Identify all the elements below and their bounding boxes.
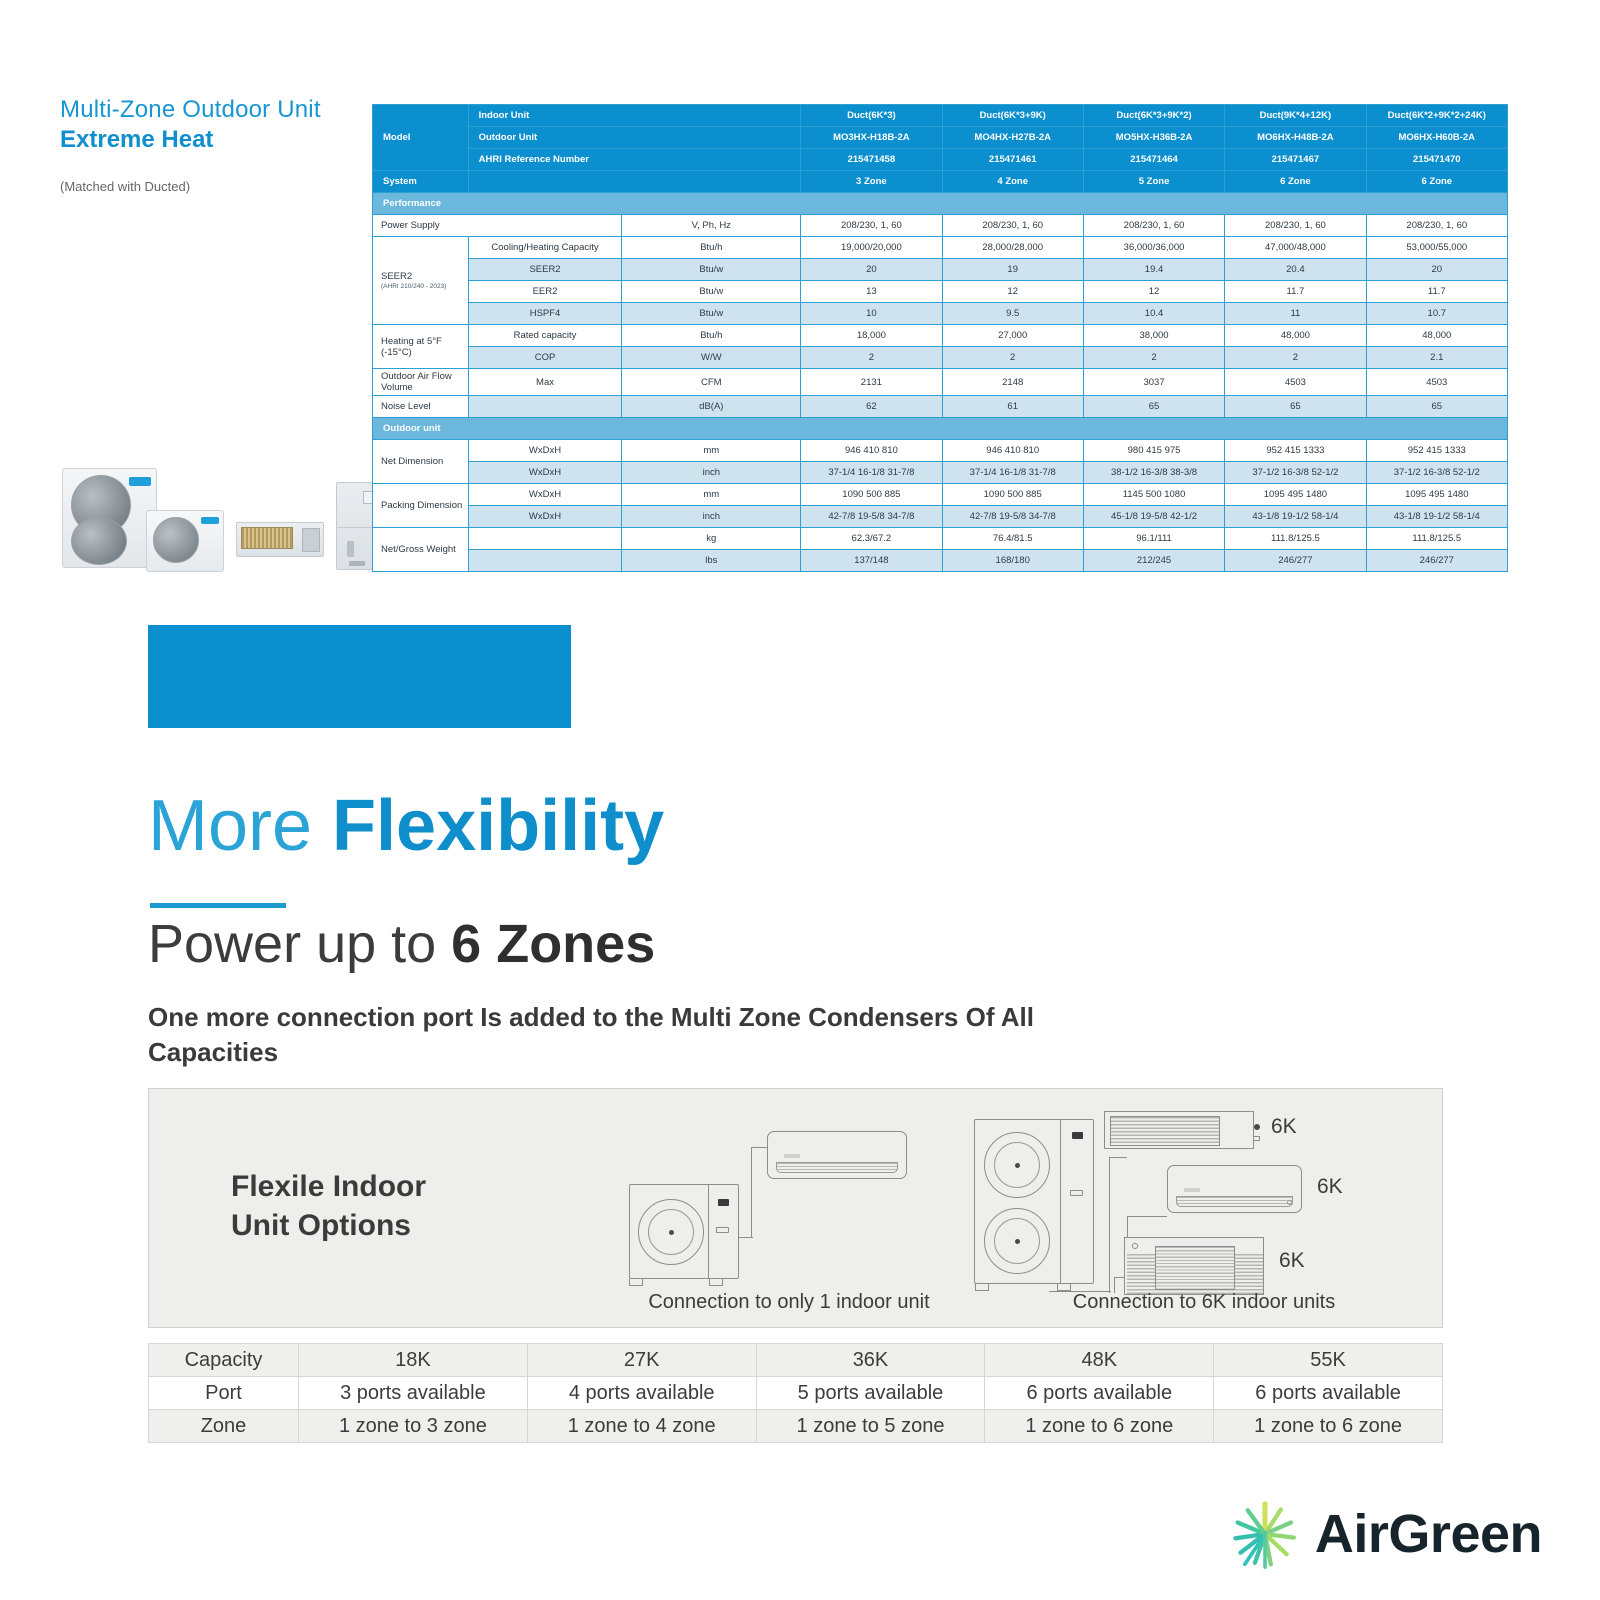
row-item-label: WxDxH xyxy=(468,462,622,484)
indoor-unit-value: Duct(6K*3+9K) xyxy=(942,105,1083,127)
indicator-dot xyxy=(1132,1243,1138,1249)
ducted-indoor-unit-image xyxy=(236,522,324,557)
cell-value: 19,000/20,000 xyxy=(801,237,942,259)
table-row: WxDxH inch 37-1/4 16-1/8 31-7/8 37-1/4 1… xyxy=(373,462,1508,484)
outdoor-unit-small-image xyxy=(146,510,224,572)
brand-badge xyxy=(129,477,151,486)
cell-value: 4503 xyxy=(1225,369,1366,396)
row-unit: Btu/w xyxy=(622,259,801,281)
cell-value: 6 ports available xyxy=(985,1377,1214,1410)
k-label-middle: 6K xyxy=(1317,1175,1343,1199)
cell-value: 208/230, 1, 60 xyxy=(1225,215,1366,237)
cell-value: 208/230, 1, 60 xyxy=(942,215,1083,237)
cell-value: 208/230, 1, 60 xyxy=(801,215,942,237)
cell-value: 6 ports available xyxy=(1214,1377,1443,1410)
diagram-heading-line1: Flexile Indoor xyxy=(231,1167,426,1206)
cell-value: 11.7 xyxy=(1366,281,1507,303)
row-unit: mm xyxy=(622,484,801,506)
louver-grille xyxy=(776,1162,898,1173)
blue-accent-block xyxy=(148,625,571,728)
table-row: Noise Level dB(A) 62 61 65 65 65 xyxy=(373,396,1508,418)
port-box xyxy=(1253,1136,1260,1141)
cell-value: 3037 xyxy=(1083,369,1224,396)
ahri-value: 215471461 xyxy=(942,149,1083,171)
cell-value: 11.7 xyxy=(1225,281,1366,303)
cell-value: 47,000/48,000 xyxy=(1225,237,1366,259)
airgreen-logo: AirGreen xyxy=(1229,1498,1542,1570)
cell-value: 12 xyxy=(942,281,1083,303)
coil-grille xyxy=(1110,1116,1220,1146)
row-unit: mm xyxy=(622,440,801,462)
cell-value: 12 xyxy=(1083,281,1224,303)
table-row: Heating at 5°F (-15°C) Rated capacity Bt… xyxy=(373,325,1508,347)
cell-value: 1095 495 1480 xyxy=(1225,484,1366,506)
indoor-unit-value: Duct(9K*4+12K) xyxy=(1225,105,1366,127)
row-unit: dB(A) xyxy=(622,396,801,418)
cell-value: 38-1/2 16-3/8 38-3/8 xyxy=(1083,462,1224,484)
row-unit: CFM xyxy=(622,369,801,396)
cell-value: 20 xyxy=(1366,259,1507,281)
title-underline-rule xyxy=(150,903,286,908)
table-band-outdoor-unit: Outdoor unit xyxy=(373,418,1508,440)
group-title: SEER2 xyxy=(381,271,412,282)
cell-value: 2 xyxy=(942,347,1083,369)
cell-value: 62 xyxy=(801,396,942,418)
row-unit: W/W xyxy=(622,347,801,369)
indoor-unit-label: Indoor Unit xyxy=(468,105,801,127)
table-row: WxDxH inch 42-7/8 19-5/8 34-7/8 42-7/8 1… xyxy=(373,506,1508,528)
brand-badge xyxy=(201,517,219,524)
capacity-port-zone-table: Capacity 18K 27K 36K 48K 55K Port 3 port… xyxy=(148,1343,1443,1443)
cell-value: 111.8/125.5 xyxy=(1366,528,1507,550)
row-label: Port xyxy=(149,1377,299,1410)
table-row: Outdoor Air Flow Volume Max CFM 2131 214… xyxy=(373,369,1508,396)
caption-right: Connection to 6K indoor units xyxy=(1009,1291,1399,1314)
model-group-label: Model xyxy=(373,105,469,171)
system-blank xyxy=(468,171,801,193)
row-group-label: Packing Dimension xyxy=(373,484,469,528)
row-item-label: SEER2 xyxy=(468,259,622,281)
row-item-label xyxy=(468,550,622,572)
cell-value: 55K xyxy=(1214,1344,1443,1377)
outdoor-unit-label: Outdoor Unit xyxy=(468,127,801,149)
fan-icon xyxy=(638,1199,704,1265)
connection-wire xyxy=(751,1147,752,1237)
header-title-line2: Extreme Heat xyxy=(60,125,380,155)
system-value: 4 Zone xyxy=(942,171,1083,193)
cell-value: 20.4 xyxy=(1225,259,1366,281)
cell-value: 4 ports available xyxy=(527,1377,756,1410)
table-row-ahri: AHRI Reference Number 215471458 21547146… xyxy=(373,149,1508,171)
table-row: EER2 Btu/w 13 12 12 11.7 11.7 xyxy=(373,281,1508,303)
row-unit: Btu/h xyxy=(622,325,801,347)
system-value: 5 Zone xyxy=(1083,171,1224,193)
cell-value: 111.8/125.5 xyxy=(1225,528,1366,550)
port-dot xyxy=(1254,1124,1260,1130)
cell-value: 18,000 xyxy=(801,325,942,347)
row-item-label: Cooling/Heating Capacity xyxy=(468,237,622,259)
foot-right xyxy=(1057,1284,1071,1291)
cell-value: 946 410 810 xyxy=(942,440,1083,462)
cell-value: 2 xyxy=(1083,347,1224,369)
cell-value: 76.4/81.5 xyxy=(942,528,1083,550)
cell-value: 1090 500 885 xyxy=(801,484,942,506)
cell-value: 11 xyxy=(1225,303,1366,325)
row-group-label: Net/Gross Weight xyxy=(373,528,469,572)
brand-badge-icon xyxy=(784,1154,800,1158)
row-item-label: WxDxH xyxy=(468,506,622,528)
brand-badge-icon xyxy=(1184,1188,1200,1192)
cell-value: 10 xyxy=(801,303,942,325)
cell-value: 43-1/8 19-1/2 58-1/4 xyxy=(1366,506,1507,528)
cell-value: 37-1/4 16-1/8 31-7/8 xyxy=(942,462,1083,484)
cell-value: 53,000/55,000 xyxy=(1366,237,1507,259)
cell-value: 18K xyxy=(299,1344,528,1377)
k-label-bottom: 6K xyxy=(1279,1249,1305,1273)
ducted-indoor-unit-top xyxy=(1104,1111,1254,1149)
cell-value: 27K xyxy=(527,1344,756,1377)
airgreen-burst-icon xyxy=(1229,1498,1301,1570)
flexibility-title-bold: Flexibility xyxy=(332,786,664,866)
product-photo-group xyxy=(58,460,378,585)
cell-value: 10.7 xyxy=(1366,303,1507,325)
ahri-value: 215471458 xyxy=(801,149,942,171)
cell-value: 952 415 1333 xyxy=(1225,440,1366,462)
k-label-top: 6K xyxy=(1271,1115,1297,1139)
cell-value: 62.3/67.2 xyxy=(801,528,942,550)
ducted-indoor-unit-bottom xyxy=(1124,1237,1264,1295)
row-item-label: WxDxH xyxy=(468,440,622,462)
cell-value: 212/245 xyxy=(1083,550,1224,572)
row-item-label: EER2 xyxy=(468,281,622,303)
table-row: Net/Gross Weight kg 62.3/67.2 76.4/81.5 … xyxy=(373,528,1508,550)
foot-right xyxy=(709,1279,723,1286)
system-label: System xyxy=(373,171,469,193)
table-row: COP W/W 2 2 2 2 2.1 xyxy=(373,347,1508,369)
cell-value: 952 415 1333 xyxy=(1366,440,1507,462)
cell-value: 137/148 xyxy=(801,550,942,572)
group-subtitle: (AHRI 210/240 - 2023) xyxy=(381,283,464,290)
row-group-label: Outdoor Air Flow Volume xyxy=(373,369,469,396)
table-row: Net Dimension WxDxH mm 946 410 810 946 4… xyxy=(373,440,1508,462)
indicator-dot xyxy=(1287,1200,1292,1205)
cell-value: 5 ports available xyxy=(756,1377,985,1410)
cell-value: 37-1/2 16-3/8 52-1/2 xyxy=(1366,462,1507,484)
port-icon xyxy=(1070,1190,1083,1196)
cell-value: 2.1 xyxy=(1366,347,1507,369)
cell-value: 42-7/8 19-5/8 34-7/8 xyxy=(801,506,942,528)
foot-left xyxy=(629,1279,643,1286)
outdoor-unit-value: MO4HX-H27B-2A xyxy=(942,127,1083,149)
cell-value: 20 xyxy=(801,259,942,281)
outdoor-unit-value: MO6HX-H60B-2A xyxy=(1366,127,1507,149)
system-value: 6 Zone xyxy=(1366,171,1507,193)
outdoor-unit-value: MO6HX-H48B-2A xyxy=(1225,127,1366,149)
cell-value: 980 415 975 xyxy=(1083,440,1224,462)
row-group-label: Net Dimension xyxy=(373,440,469,484)
diagram-heading-line2: Unit Options xyxy=(231,1206,426,1245)
table-row: HSPF4 Btu/w 10 9.5 10.4 11 10.7 xyxy=(373,303,1508,325)
cell-value: 28,000/28,000 xyxy=(942,237,1083,259)
flexibility-title: More Flexibility xyxy=(148,790,664,862)
cell-value: 246/277 xyxy=(1225,550,1366,572)
table-row-capacity: Capacity 18K 27K 36K 48K 55K xyxy=(149,1344,1443,1377)
cell-value: 65 xyxy=(1366,396,1507,418)
caption-left: Connection to only 1 indoor unit xyxy=(619,1291,959,1314)
diagram-panel: Flexile Indoor Unit Options Connection t… xyxy=(148,1088,1443,1328)
table-row-port: Port 3 ports available 4 ports available… xyxy=(149,1377,1443,1410)
inner-grille xyxy=(1155,1246,1235,1290)
cell-value: 1 zone to 4 zone xyxy=(527,1410,756,1443)
fan-icon xyxy=(153,517,199,563)
cell-value: 43-1/8 19-1/2 58-1/4 xyxy=(1225,506,1366,528)
cell-value: 1 zone to 3 zone xyxy=(299,1410,528,1443)
cell-value: 27,000 xyxy=(942,325,1083,347)
cell-value: 48K xyxy=(985,1344,1214,1377)
ahri-value: 215471470 xyxy=(1366,149,1507,171)
port-icon xyxy=(716,1227,729,1233)
wall-mounted-indoor-unit-left xyxy=(767,1131,907,1179)
zones-subtitle-light: Power up to xyxy=(148,914,451,974)
table-row-outdoor-unit: Outdoor Unit MO3HX-H18B-2A MO4HX-H27B-2A… xyxy=(373,127,1508,149)
page-header: Multi-Zone Outdoor Unit Extreme Heat (Ma… xyxy=(60,95,380,194)
row-item-label: Power Supply xyxy=(373,215,622,237)
cell-value: 13 xyxy=(801,281,942,303)
row-unit: lbs xyxy=(622,550,801,572)
indoor-unit-value: Duct(6K*3) xyxy=(801,105,942,127)
cell-value: 1 zone to 6 zone xyxy=(1214,1410,1443,1443)
row-item-label: Rated capacity xyxy=(468,325,622,347)
wall-mounted-indoor-unit-right xyxy=(1167,1165,1302,1213)
outdoor-unit-line-art-right xyxy=(974,1119,1094,1284)
cell-value: 2148 xyxy=(942,369,1083,396)
table-row-system: System 3 Zone 4 Zone 5 Zone 6 Zone 6 Zon… xyxy=(373,171,1508,193)
cell-value: 48,000 xyxy=(1225,325,1366,347)
cell-value: 9.5 xyxy=(942,303,1083,325)
cell-value: 208/230, 1, 60 xyxy=(1083,215,1224,237)
row-unit: Btu/w xyxy=(622,281,801,303)
row-item-label: Max xyxy=(468,369,622,396)
table-row-zone: Zone 1 zone to 3 zone 1 zone to 4 zone 1… xyxy=(149,1410,1443,1443)
specification-table: Model Indoor Unit Duct(6K*3) Duct(6K*3+9… xyxy=(372,104,1508,572)
row-group-label: Noise Level xyxy=(373,396,469,418)
flexibility-title-light: More xyxy=(148,786,332,866)
table-band-performance: Performance xyxy=(373,193,1508,215)
cell-value: 36K xyxy=(756,1344,985,1377)
cell-value: 37-1/4 16-1/8 31-7/8 xyxy=(801,462,942,484)
row-item-label: HSPF4 xyxy=(468,303,622,325)
foot-left xyxy=(975,1284,989,1291)
row-label: Capacity xyxy=(149,1344,299,1377)
ahri-value: 215471464 xyxy=(1083,149,1224,171)
cell-value: 246/277 xyxy=(1366,550,1507,572)
outdoor-unit-large-image xyxy=(62,468,157,568)
row-item-label xyxy=(468,528,622,550)
header-title-line1: Multi-Zone Outdoor Unit xyxy=(60,95,380,125)
cell-value: 48,000 xyxy=(1366,325,1507,347)
cell-value: 96.1/111 xyxy=(1083,528,1224,550)
table-row-indoor-unit: Model Indoor Unit Duct(6K*3) Duct(6K*3+9… xyxy=(373,105,1508,127)
table-row: SEER2 (AHRI 210/240 - 2023) Cooling/Heat… xyxy=(373,237,1508,259)
outdoor-unit-band-label: Outdoor unit xyxy=(373,418,1508,440)
header-note: (Matched with Ducted) xyxy=(60,179,380,194)
valve-graphic xyxy=(349,561,365,566)
row-unit: V, Ph, Hz xyxy=(622,215,801,237)
system-value: 3 Zone xyxy=(801,171,942,193)
cell-value: 2131 xyxy=(801,369,942,396)
fan-icon xyxy=(71,517,127,565)
endbox-graphic xyxy=(302,528,320,552)
cell-value: 61 xyxy=(942,396,1083,418)
cell-value: 1 zone to 5 zone xyxy=(756,1410,985,1443)
airgreen-logo-text: AirGreen xyxy=(1315,1503,1542,1565)
cell-value: 19.4 xyxy=(1083,259,1224,281)
cell-value: 2 xyxy=(801,347,942,369)
system-value: 6 Zone xyxy=(1225,171,1366,193)
cell-value: 38,000 xyxy=(1083,325,1224,347)
table-row: Packing Dimension WxDxH mm 1090 500 885 … xyxy=(373,484,1508,506)
row-group-label: Heating at 5°F (-15°C) xyxy=(373,325,469,369)
connection-wire xyxy=(1127,1216,1167,1217)
connection-wire xyxy=(1109,1157,1127,1158)
cell-value: 3 ports available xyxy=(299,1377,528,1410)
indoor-unit-value: Duct(6K*3+9K*2) xyxy=(1083,105,1224,127)
cell-value: 1 zone to 6 zone xyxy=(985,1410,1214,1443)
cell-value: 36,000/36,000 xyxy=(1083,237,1224,259)
indoor-unit-value: Duct(6K*2+9K*2+24K) xyxy=(1366,105,1507,127)
cell-value: 946 410 810 xyxy=(801,440,942,462)
cell-value: 65 xyxy=(1083,396,1224,418)
row-label: Zone xyxy=(149,1410,299,1443)
outdoor-unit-value: MO3HX-H18B-2A xyxy=(801,127,942,149)
outdoor-unit-value: MO5HX-H36B-2A xyxy=(1083,127,1224,149)
row-item-label: WxDxH xyxy=(468,484,622,506)
lead-paragraph: One more connection port Is added to the… xyxy=(148,1000,1098,1070)
row-unit: inch xyxy=(622,462,801,484)
brand-badge-icon xyxy=(1072,1132,1083,1139)
cell-value: 1090 500 885 xyxy=(942,484,1083,506)
cell-value: 168/180 xyxy=(942,550,1083,572)
diagram-heading: Flexile Indoor Unit Options xyxy=(231,1167,426,1245)
row-item-label: COP xyxy=(468,347,622,369)
cell-value: 19 xyxy=(942,259,1083,281)
performance-band-label: Performance xyxy=(373,193,1508,215)
coil-graphic xyxy=(241,527,293,549)
row-unit: inch xyxy=(622,506,801,528)
cell-value: 45-1/8 19-5/8 42-1/2 xyxy=(1083,506,1224,528)
cell-value: 10.4 xyxy=(1083,303,1224,325)
brand-badge-icon xyxy=(718,1199,729,1206)
table-row: Power Supply V, Ph, Hz 208/230, 1, 60 20… xyxy=(373,215,1508,237)
connection-wire xyxy=(1109,1157,1110,1293)
zones-subtitle: Power up to 6 Zones xyxy=(148,915,655,974)
row-group-label: SEER2 (AHRI 210/240 - 2023) xyxy=(373,237,469,325)
table-row: SEER2 Btu/w 20 19 19.4 20.4 20 xyxy=(373,259,1508,281)
table-row: lbs 137/148 168/180 212/245 246/277 246/… xyxy=(373,550,1508,572)
cell-value: 1095 495 1480 xyxy=(1366,484,1507,506)
cell-value: 208/230, 1, 60 xyxy=(1366,215,1507,237)
row-unit: Btu/w xyxy=(622,303,801,325)
cell-value: 1145 500 1080 xyxy=(1083,484,1224,506)
row-unit: Btu/h xyxy=(622,237,801,259)
cell-value: 65 xyxy=(1225,396,1366,418)
cell-value: 42-7/8 19-5/8 34-7/8 xyxy=(942,506,1083,528)
outdoor-unit-line-art-left xyxy=(629,1184,739,1279)
cell-value: 2 xyxy=(1225,347,1366,369)
louver-grille xyxy=(1176,1196,1293,1207)
fan-icon xyxy=(984,1132,1050,1198)
zones-subtitle-bold: 6 Zones xyxy=(451,914,655,974)
row-item-label xyxy=(468,396,622,418)
ahri-label: AHRI Reference Number xyxy=(468,149,801,171)
fan-icon xyxy=(984,1208,1050,1274)
cell-value: 37-1/2 16-3/8 52-1/2 xyxy=(1225,462,1366,484)
cell-value: 4503 xyxy=(1366,369,1507,396)
valve-graphic xyxy=(347,541,354,557)
ahri-value: 215471467 xyxy=(1225,149,1366,171)
connection-wire xyxy=(739,1237,753,1238)
row-unit: kg xyxy=(622,528,801,550)
